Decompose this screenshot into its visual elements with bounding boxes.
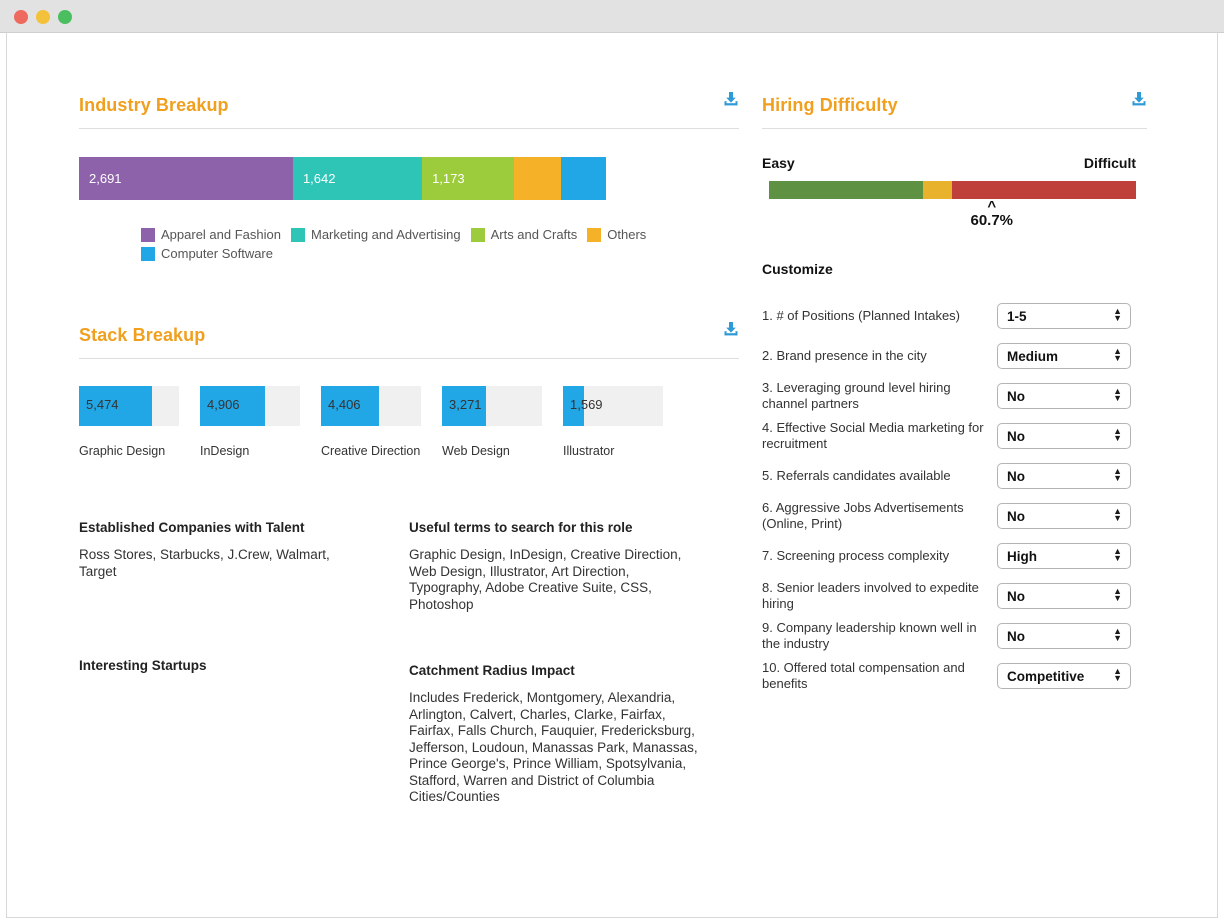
customize-select-leadership-known[interactable]: No ▲▼: [997, 623, 1131, 649]
customize-row: 4. Effective Social Media marketing for …: [762, 417, 1147, 455]
page-viewport: Industry Breakup 2,691: [6, 33, 1218, 918]
insight-column-right: Useful terms to search for this role Gra…: [409, 520, 729, 806]
customize-row: 2. Brand presence in the city Medium ▲▼: [762, 337, 1147, 375]
industry-segment: 1,642: [293, 157, 422, 200]
stack-bar-value: 4,906: [207, 397, 240, 412]
download-icon[interactable]: [723, 321, 739, 337]
window-titlebar: [0, 0, 1224, 33]
customize-question-label: 9. Company leadership known well in the …: [762, 620, 997, 652]
hiring-panel-header: Hiring Difficulty: [762, 95, 1147, 129]
stack-bar-item: 4,406 Creative Direction: [321, 386, 442, 458]
gauge-score-value: 60.7%: [970, 212, 1013, 230]
customize-select-referrals[interactable]: No ▲▼: [997, 463, 1131, 489]
stack-bar-label: Illustrator: [563, 444, 684, 458]
stack-breakup-panel: Stack Breakup: [79, 325, 739, 458]
industry-breakup-panel: Industry Breakup 2,691: [79, 95, 739, 265]
customize-select-value: No: [998, 629, 1025, 644]
gauge-segment-difficult: [952, 181, 1136, 199]
stack-bar-track: 4,406: [321, 386, 421, 426]
industry-segment-value: 1,642: [293, 171, 336, 186]
legend-item: Computer Software: [141, 246, 273, 262]
legend-item: Marketing and Advertising: [291, 227, 461, 243]
close-window-button[interactable]: [14, 10, 28, 24]
industry-legend: Apparel and Fashion Marketing and Advert…: [79, 227, 701, 265]
customize-row: 8. Senior leaders involved to expedite h…: [762, 577, 1147, 615]
stack-bar-value: 5,474: [86, 397, 119, 412]
customize-select-value: No: [998, 389, 1025, 404]
stepper-icon: ▲▼: [1113, 588, 1122, 602]
legend-swatch-icon: [141, 247, 155, 261]
stepper-icon: ▲▼: [1113, 308, 1122, 322]
stack-bar-item: 1,569 Illustrator: [563, 386, 684, 458]
industry-stacked-bar: 2,691 1,642 1,173: [79, 157, 606, 200]
industry-panel-header: Industry Breakup: [79, 95, 739, 129]
stack-bar-track: 3,271: [442, 386, 542, 426]
customize-select-value: Competitive: [998, 669, 1084, 684]
legend-swatch-icon: [141, 228, 155, 242]
customize-heading: Customize: [762, 261, 1147, 277]
customize-question-label: 8. Senior leaders involved to expedite h…: [762, 580, 997, 612]
gauge-difficult-label: Difficult: [1084, 155, 1136, 171]
stack-bar-track: 1,569: [563, 386, 663, 426]
customize-select-job-ads[interactable]: No ▲▼: [997, 503, 1131, 529]
gauge-pointer: ^ 60.7%: [970, 201, 1013, 230]
right-column: Hiring Difficulty Easy Difficult: [762, 95, 1147, 697]
stack-bar-item: 4,906 InDesign: [200, 386, 321, 458]
stack-bar-group: 5,474 Graphic Design 4,906 InDesign: [79, 386, 739, 458]
left-column: Industry Breakup 2,691: [79, 95, 739, 806]
established-companies-body: Ross Stores, Starbucks, J.Crew, Walmart,…: [79, 547, 369, 580]
legend-label: Computer Software: [161, 246, 273, 262]
gauge-segment-easy: [769, 181, 923, 199]
customize-select-positions[interactable]: 1-5 ▲▼: [997, 303, 1131, 329]
customize-row: 3. Leveraging ground level hiring channe…: [762, 377, 1147, 415]
customize-question-label: 7. Screening process complexity: [762, 548, 997, 564]
customize-select-social-media[interactable]: No ▲▼: [997, 423, 1131, 449]
stepper-icon: ▲▼: [1113, 348, 1122, 362]
industry-segment-value: 1,173: [422, 171, 465, 186]
industry-panel-title: Industry Breakup: [79, 95, 739, 116]
hiring-panel-title: Hiring Difficulty: [762, 95, 1147, 116]
stack-panel-title: Stack Breakup: [79, 325, 739, 346]
customize-select-value: No: [998, 589, 1025, 604]
legend-swatch-icon: [587, 228, 601, 242]
legend-label: Arts and Crafts: [491, 227, 578, 243]
stack-bar-track: 5,474: [79, 386, 179, 426]
stepper-icon: ▲▼: [1113, 628, 1122, 642]
customize-question-label: 10. Offered total compensation and benef…: [762, 660, 997, 692]
stack-bar-label: Creative Direction: [321, 444, 442, 458]
legend-swatch-icon: [291, 228, 305, 242]
app-window: Industry Breakup 2,691: [0, 0, 1224, 918]
download-icon[interactable]: [1131, 91, 1147, 107]
industry-segment: [561, 157, 606, 200]
customize-row: 5. Referrals candidates available No ▲▼: [762, 457, 1147, 495]
stack-bar-value: 1,569: [570, 397, 603, 412]
download-icon[interactable]: [723, 91, 739, 107]
industry-segment: 1,173: [422, 157, 514, 200]
customize-select-value: No: [998, 429, 1025, 444]
gauge-segment-moderate: [923, 181, 952, 199]
customize-select-value: Medium: [998, 349, 1058, 364]
legend-swatch-icon: [471, 228, 485, 242]
customize-select-brand-presence[interactable]: Medium ▲▼: [997, 343, 1131, 369]
stepper-icon: ▲▼: [1113, 508, 1122, 522]
industry-segment-value: 2,691: [79, 171, 122, 186]
insight-text-grid: Established Companies with Talent Ross S…: [79, 520, 739, 806]
customize-select-senior-leaders[interactable]: No ▲▼: [997, 583, 1131, 609]
customize-question-label: 6. Aggressive Jobs Advertisements (Onlin…: [762, 500, 997, 532]
minimize-window-button[interactable]: [36, 10, 50, 24]
gauge-easy-label: Easy: [762, 155, 795, 171]
customize-row: 10. Offered total compensation and benef…: [762, 657, 1147, 695]
stepper-icon: ▲▼: [1113, 468, 1122, 482]
legend-item: Arts and Crafts: [471, 227, 578, 243]
legend-label: Others: [607, 227, 646, 243]
customize-question-label: 1. # of Positions (Planned Intakes): [762, 308, 997, 324]
insight-column-left: Established Companies with Talent Ross S…: [79, 520, 409, 806]
stack-bar-track: 4,906: [200, 386, 300, 426]
stack-bar-item: 3,271 Web Design: [442, 386, 563, 458]
stepper-icon: ▲▼: [1113, 388, 1122, 402]
stepper-icon: ▲▼: [1113, 668, 1122, 682]
window-controls: [14, 10, 72, 24]
customize-question-label: 2. Brand presence in the city: [762, 348, 997, 364]
stack-bar-label: Web Design: [442, 444, 563, 458]
customize-select-value: No: [998, 469, 1025, 484]
legend-label: Apparel and Fashion: [161, 227, 281, 243]
customize-select-channel-partners[interactable]: No ▲▼: [997, 383, 1131, 409]
customize-row: 1. # of Positions (Planned Intakes) 1-5 …: [762, 297, 1147, 335]
customize-select-screening[interactable]: High ▲▼: [997, 543, 1131, 569]
stack-bar-label: Graphic Design: [79, 444, 200, 458]
stack-bar-label: InDesign: [200, 444, 321, 458]
stepper-icon: ▲▼: [1113, 548, 1122, 562]
caret-up-icon: ^: [970, 201, 1013, 212]
customize-question-label: 4. Effective Social Media marketing for …: [762, 420, 997, 452]
customize-select-value: High: [998, 549, 1037, 564]
customize-question-label: 3. Leveraging ground level hiring channe…: [762, 380, 997, 412]
catchment-radius-title: Catchment Radius Impact: [409, 663, 729, 678]
catchment-radius-body: Includes Frederick, Montgomery, Alexandr…: [409, 690, 704, 806]
legend-item: Apparel and Fashion: [141, 227, 281, 243]
customize-row: 9. Company leadership known well in the …: [762, 617, 1147, 655]
legend-label: Marketing and Advertising: [311, 227, 461, 243]
legend-item: Others: [587, 227, 646, 243]
stack-bar-item: 5,474 Graphic Design: [79, 386, 200, 458]
stack-panel-header: Stack Breakup: [79, 325, 739, 359]
interesting-startups-title: Interesting Startups: [79, 658, 409, 673]
customize-row: 7. Screening process complexity High ▲▼: [762, 537, 1147, 575]
useful-terms-title: Useful terms to search for this role: [409, 520, 729, 535]
maximize-window-button[interactable]: [58, 10, 72, 24]
customize-select-value: 1-5: [998, 309, 1027, 324]
stack-bar-value: 3,271: [449, 397, 482, 412]
customize-row: 6. Aggressive Jobs Advertisements (Onlin…: [762, 497, 1147, 535]
customize-select-compensation[interactable]: Competitive ▲▼: [997, 663, 1131, 689]
useful-terms-body: Graphic Design, InDesign, Creative Direc…: [409, 547, 704, 613]
stepper-icon: ▲▼: [1113, 428, 1122, 442]
gauge-axis-labels: Easy Difficult: [762, 155, 1136, 171]
hiring-difficulty-gauge: ^ 60.7%: [769, 181, 1136, 199]
customize-select-value: No: [998, 509, 1025, 524]
established-companies-title: Established Companies with Talent: [79, 520, 409, 535]
industry-segment: 2,691: [79, 157, 293, 200]
customize-question-list: 1. # of Positions (Planned Intakes) 1-5 …: [762, 297, 1147, 695]
customize-question-label: 5. Referrals candidates available: [762, 468, 997, 484]
stack-bar-value: 4,406: [328, 397, 361, 412]
industry-segment: [514, 157, 561, 200]
